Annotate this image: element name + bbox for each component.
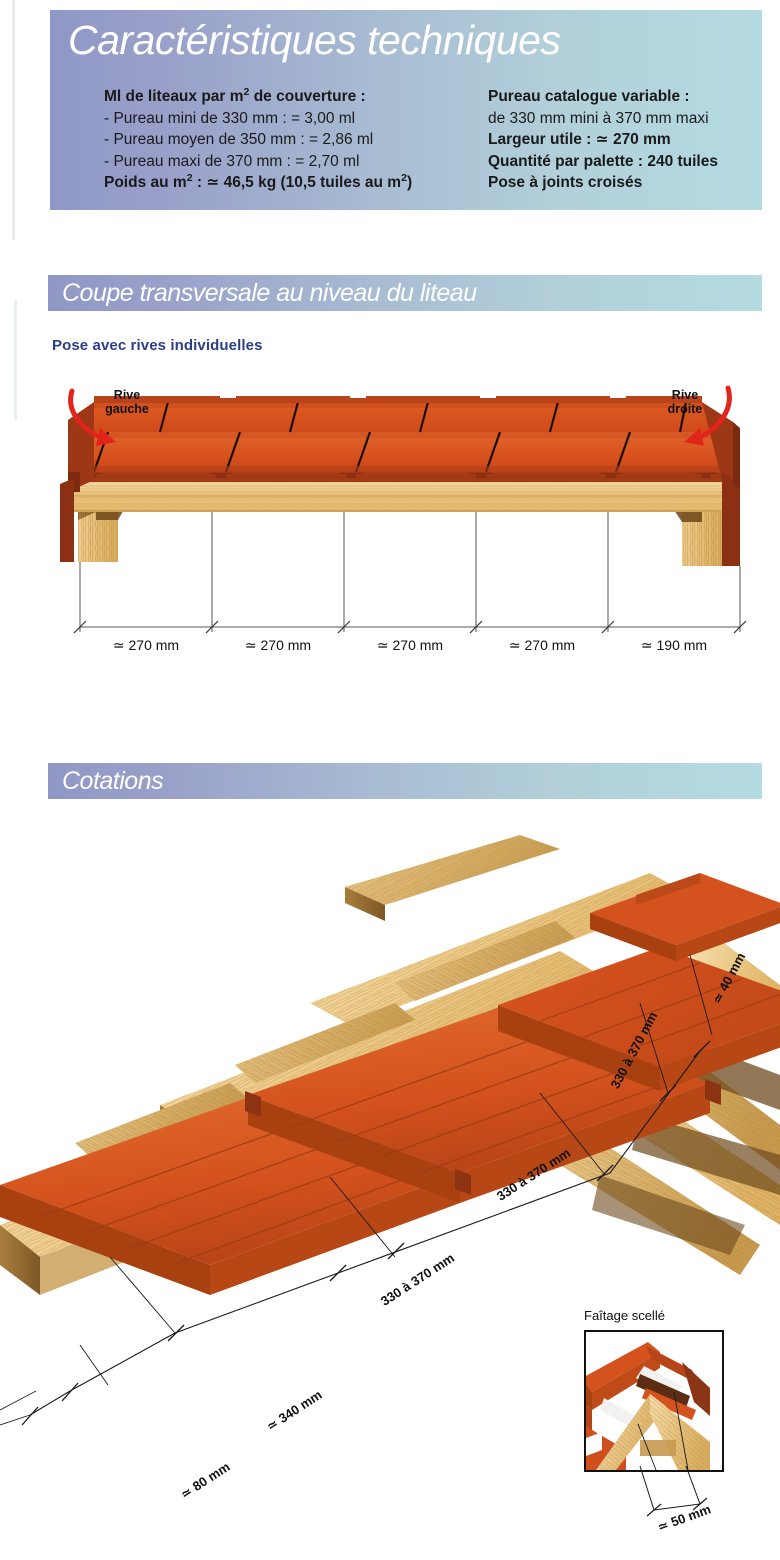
spec-right-column: Pureau catalogue variable : de 330 mm mi… xyxy=(488,86,780,194)
coupe-section-title: Coupe transversale au niveau du liteau xyxy=(62,276,477,310)
rive-droite-line1: Rive xyxy=(650,388,720,402)
spec-line: - Pureau moyen de 350 mm : = 2,86 ml xyxy=(104,129,484,151)
coupe-dim-3: ≃ 270 mm xyxy=(344,637,476,654)
spec-line: Poids au m2 : ≃ 46,5 kg (10,5 tuiles au … xyxy=(104,172,484,194)
coupe-dim-4: ≃ 270 mm xyxy=(476,637,608,654)
coupe-dim-1: ≃ 270 mm xyxy=(80,637,212,654)
spec-line: Quantité par palette : 240 tuiles xyxy=(488,151,780,173)
coupe-section-banner: Coupe transversale au niveau du liteau xyxy=(48,275,762,311)
spec-line: Ml de liteaux par m2 de couverture : xyxy=(104,86,484,108)
spec-left-column: Ml de liteaux par m2 de couverture : - P… xyxy=(104,86,484,194)
spec-line: - Pureau mini de 330 mm : = 3,00 ml xyxy=(104,108,484,130)
cross-section-svg xyxy=(50,380,750,665)
page-rule-mid xyxy=(14,300,17,420)
spec-line: Pureau catalogue variable : xyxy=(488,86,780,108)
faitage-inset-figure xyxy=(584,1330,724,1472)
cotations-section-title: Cotations xyxy=(62,764,163,798)
rive-gauche-label: Rive gauche xyxy=(92,388,162,416)
coupe-subtitle: Pose avec rives individuelles xyxy=(52,337,263,354)
coupe-dim-2: ≃ 270 mm xyxy=(212,637,344,654)
spec-line: - Pureau maxi de 370 mm : = 2,70 ml xyxy=(104,151,484,173)
page-title: Caractéristiques techniques xyxy=(68,14,560,66)
specifications-banner: Caractéristiques techniques Ml de liteau… xyxy=(50,10,762,210)
faitage-inset-svg xyxy=(586,1332,722,1470)
rive-gauche-line1: Rive xyxy=(92,388,162,402)
coupe-dim-5: ≃ 190 mm xyxy=(608,637,740,654)
cotations-section-banner: Cotations xyxy=(48,763,762,799)
page-rule-top xyxy=(12,0,15,240)
rive-droite-label: Rive droite xyxy=(650,388,720,416)
spec-line: de 330 mm mini à 370 mm maxi xyxy=(488,108,780,130)
inset-caption: Faîtage scellé xyxy=(584,1308,665,1323)
cross-section-illustration xyxy=(50,380,750,665)
rive-gauche-line2: gauche xyxy=(92,402,162,416)
rive-droite-line2: droite xyxy=(650,402,720,416)
spec-line: Pose à joints croisés xyxy=(488,172,780,194)
spec-line: Largeur utile : ≃ 270 mm xyxy=(488,129,780,151)
